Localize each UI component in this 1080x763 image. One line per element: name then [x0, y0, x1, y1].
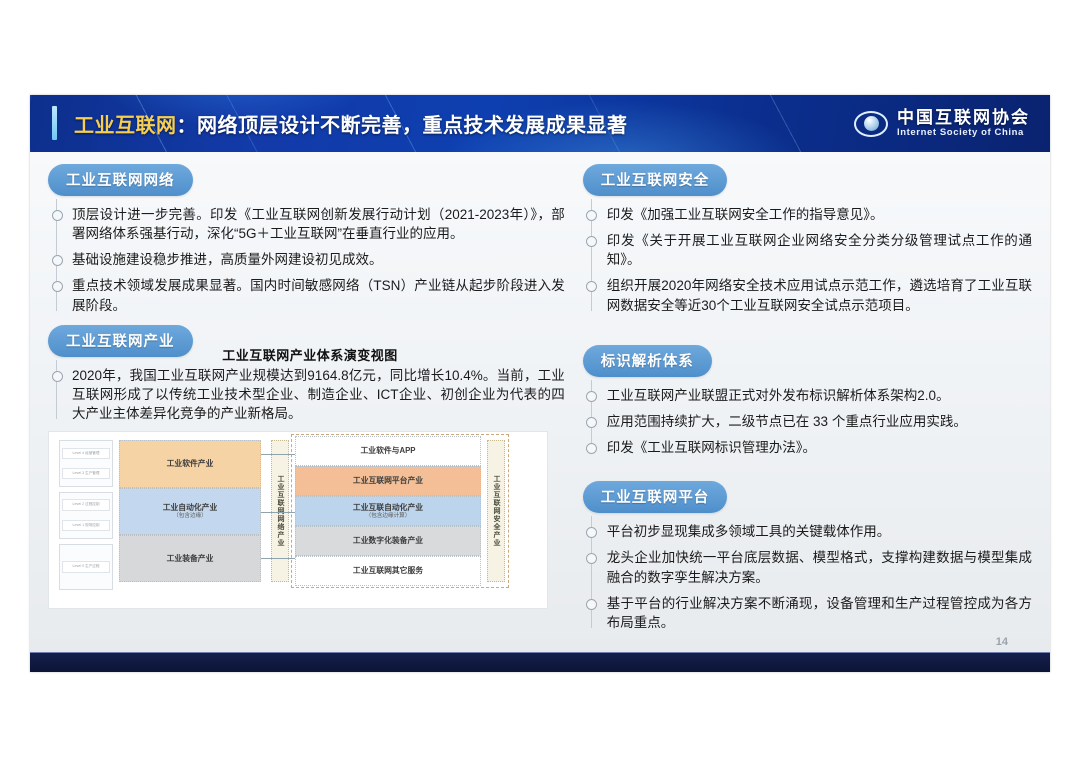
diagram-box: 工业互联网平台产业 — [295, 466, 481, 496]
level-box: Level 1 现场控制 — [62, 520, 110, 531]
title-rest-text: ：网络顶层设计不断完善，重点技术发展成果显著 — [177, 109, 628, 138]
slide-header: 工业互联网 ：网络顶层设计不断完善，重点技术发展成果显著 中国互联网协会 Int… — [30, 95, 1050, 152]
level-box: Level 0 生产过程 — [62, 561, 110, 572]
bullet-list-identifier: 工业互联网产业联盟正式对外发布标识解析体系架构2.0。 应用范围持续扩大，二级节… — [583, 386, 1032, 457]
left-column: 工业互联网网络 顶层设计进一步完善。印发《工业互联网创新发展行动计划（2021-… — [48, 164, 565, 652]
diagram-traditional-stack: 工业软件产业 工业自动化产业 （包含边缘） 工业装备产业 — [119, 440, 261, 582]
diagram-box-label: 工业互联网平台产业 — [353, 476, 423, 486]
list-item: 印发《加强工业互联网安全工作的指导意见》。 — [607, 205, 1032, 224]
industry-system-diagram: Level 4 经营管理 Level 3 生产管理 Level 2 过程控制 L… — [48, 431, 548, 609]
diagram-box: 工业软件产业 — [119, 440, 261, 487]
level-box: Level 2 过程控制 — [62, 499, 110, 510]
diagram-box-label: 工业互联网其它服务 — [353, 566, 423, 576]
diagram-box-sublabel: （包含边缘） — [173, 513, 207, 520]
diagram-box-label: 工业软件与APP — [360, 446, 415, 456]
diagram-box: 工业软件与APP — [295, 436, 481, 466]
bullet-list-network: 顶层设计进一步完善。印发《工业互联网创新发展行动计划（2021-2023年）》，… — [48, 205, 565, 315]
section-industrial-internet-network: 工业互联网网络 顶层设计进一步完善。印发《工业互联网创新发展行动计划（2021-… — [48, 164, 565, 315]
section-industrial-internet-industry: 工业互联网产业 2020年，我国工业互联网产业规模达到9164.8亿元，同比增长… — [48, 325, 565, 423]
logo-chinese-name: 中国互联网协会 — [897, 109, 1030, 127]
list-item: 平台初步显现集成多领域工具的关键载体作用。 — [607, 522, 1032, 541]
diagram-vertical-label-security: 工业互联网安全产业 — [487, 440, 505, 582]
diagram-vertical-label-network: 工业互联网网络产业 — [271, 440, 289, 582]
diagram-box-label: 工业软件产业 — [167, 459, 214, 469]
logo-text: 中国互联网协会 Internet Society of China — [897, 109, 1030, 138]
level-group: Level 2 过程控制 Level 1 现场控制 — [59, 492, 113, 539]
diagram-box-sublabel: （包含边缘计算） — [366, 513, 411, 520]
title-accent-bar — [52, 106, 57, 140]
diagram-box: 工业自动化产业 （包含边缘） — [119, 488, 261, 535]
list-item: 龙头企业加快统一平台底层数据、模型格式，支撑构建数据与模型集成融合的数字孪生解决… — [607, 548, 1032, 586]
title-highlight-text: 工业互联网 — [74, 109, 177, 138]
diagram-box: 工业互联自动化产业 （包含边缘计算） — [295, 496, 481, 526]
slide-body: 工业互联网网络 顶层设计进一步完善。印发《工业互联网创新发展行动计划（2021-… — [30, 152, 1050, 652]
list-item: 组织开展2020年网络安全技术应用试点示范工作，遴选培育了工业互联网数据安全等近… — [607, 276, 1032, 314]
diagram-box: 工业装备产业 — [119, 535, 261, 582]
diagram-level-column: Level 4 经营管理 Level 3 生产管理 Level 2 过程控制 L… — [59, 440, 113, 590]
diagram-box-label: 工业数字化装备产业 — [353, 536, 423, 546]
right-column: 工业互联网安全 印发《加强工业互联网安全工作的指导意见》。 印发《关于开展工业互… — [583, 164, 1032, 652]
slide-title: 工业互联网 ：网络顶层设计不断完善，重点技术发展成果显著 — [74, 95, 628, 152]
organization-logo: 中国互联网协会 Internet Society of China — [854, 95, 1030, 152]
section-industrial-internet-security: 工业互联网安全 印发《加强工业互联网安全工作的指导意见》。 印发《关于开展工业互… — [583, 164, 1032, 315]
slide-footer-bar — [30, 652, 1050, 672]
level-group: Level 0 生产过程 — [59, 544, 113, 591]
list-item: 工业互联网产业联盟正式对外发布标识解析体系架构2.0。 — [607, 386, 1032, 405]
list-item: 顶层设计进一步完善。印发《工业互联网创新发展行动计划（2021-2023年）》，… — [72, 205, 565, 243]
bullet-list-security: 印发《加强工业互联网安全工作的指导意见》。 印发《关于开展工业互联网企业网络安全… — [583, 205, 1032, 315]
diagram-box-label: 工业装备产业 — [167, 554, 214, 564]
list-item: 应用范围持续扩大，二级节点已在 33 个重点行业应用实践。 — [607, 412, 1032, 431]
list-item: 基于平台的行业解决方案不断涌现，设备管理和生产过程管控成为各方布局重点。 — [607, 594, 1032, 632]
logo-english-name: Internet Society of China — [897, 128, 1030, 138]
diagram-box: 工业数字化装备产业 — [295, 526, 481, 556]
section-heading-security: 工业互联网安全 — [583, 164, 728, 196]
bullet-list-industry: 2020年，我国工业互联网产业规模达到9164.8亿元，同比增长10.4%。当前… — [48, 366, 565, 423]
section-heading-platform: 工业互联网平台 — [583, 481, 728, 513]
diagram-box-label: 工业互联自动化产业 — [353, 503, 423, 513]
section-heading-identifier: 标识解析体系 — [583, 345, 712, 377]
diagram-box-label: 工业自动化产业 — [163, 503, 218, 513]
globe-icon — [854, 111, 888, 137]
section-industrial-internet-platform: 工业互联网平台 平台初步显现集成多领域工具的关键载体作用。 龙头企业加快统一平台… — [583, 481, 1032, 632]
level-box: Level 4 经营管理 — [62, 448, 110, 459]
diagram-caption: 工业互联网产业体系演变视图 — [160, 345, 460, 364]
presentation-slide: 工业互联网 ：网络顶层设计不断完善，重点技术发展成果显著 中国互联网协会 Int… — [30, 95, 1050, 672]
level-box: Level 3 生产管理 — [62, 468, 110, 479]
page-number: 14 — [996, 636, 1008, 648]
section-heading-network: 工业互联网网络 — [48, 164, 193, 196]
diagram-box: 工业互联网其它服务 — [295, 556, 481, 586]
list-item: 2020年，我国工业互联网产业规模达到9164.8亿元，同比增长10.4%。当前… — [72, 366, 565, 423]
list-item: 基础设施建设稳步推进，高质量外网建设初见成效。 — [72, 250, 565, 269]
level-group: Level 4 经营管理 Level 3 生产管理 — [59, 440, 113, 487]
bullet-list-platform: 平台初步显现集成多领域工具的关键载体作用。 龙头企业加快统一平台底层数据、模型格… — [583, 522, 1032, 632]
list-item: 印发《关于开展工业互联网企业网络安全分类分级管理试点工作的通知》。 — [607, 231, 1032, 269]
section-identifier-resolution: 标识解析体系 工业互联网产业联盟正式对外发布标识解析体系架构2.0。 应用范围持… — [583, 345, 1032, 457]
list-item: 印发《工业互联网标识管理办法》。 — [607, 438, 1032, 457]
diagram-new-stack: 工业软件与APP 工业互联网平台产业 工业互联自动化产业 （包含边缘计算） 工业… — [295, 436, 481, 586]
list-item: 重点技术领域发展成果显著。国内时间敏感网络（TSN）产业链从起步阶段进入发展阶段… — [72, 276, 565, 314]
